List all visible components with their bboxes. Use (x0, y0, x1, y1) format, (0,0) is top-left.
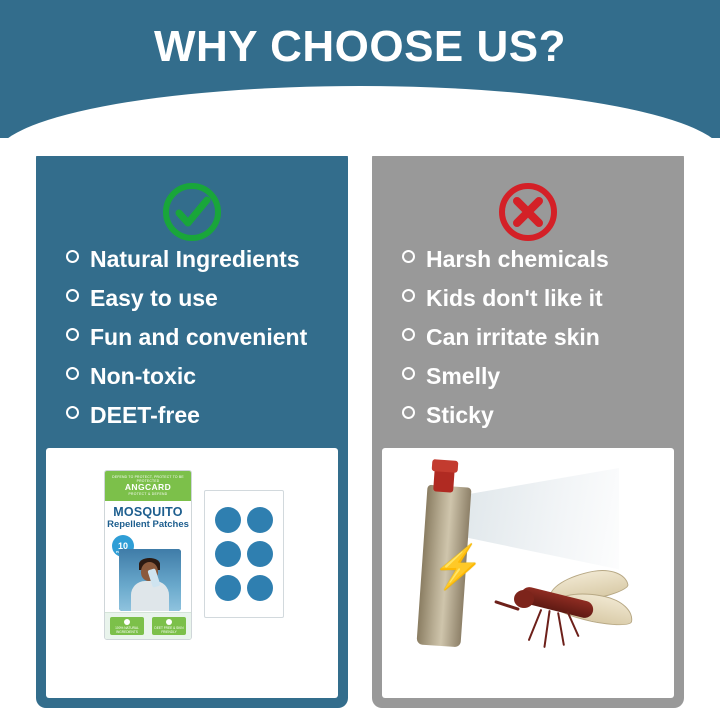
list-item: Kids don't like it (372, 287, 684, 310)
package-lifestyle-photo (119, 549, 181, 611)
package-header-band: DEFEND TO PROTECT, PROTECT TO BE PROTECT… (105, 471, 191, 501)
mosquito-leg (528, 609, 543, 641)
cross-circle-icon (372, 178, 684, 246)
pros-card: Natural Ingredients Easy to use Fun and … (36, 148, 348, 708)
cons-list: Harsh chemicals Kids don't like it Can i… (372, 248, 684, 443)
list-item-label: DEET-free (90, 404, 200, 427)
bullet-icon (402, 406, 415, 419)
list-item: Natural Ingredients (36, 248, 348, 271)
package-brand-sub: PROTECT & DEFEND (105, 492, 191, 496)
package-title-line1: MOSQUITO (105, 505, 191, 519)
list-item-label: Easy to use (90, 287, 218, 310)
list-item-label: Can irritate skin (426, 326, 600, 349)
pros-list: Natural Ingredients Easy to use Fun and … (36, 248, 348, 443)
package-brand: ANGCARD (105, 482, 191, 492)
package-footer-left: 100% NATURAL INGREDIENTS (110, 617, 144, 635)
package-title-line2: Repellent Patches (105, 519, 191, 530)
list-item: DEET-free (36, 404, 348, 427)
bullet-icon (402, 250, 415, 263)
cons-card: Harsh chemicals Kids don't like it Can i… (372, 148, 684, 708)
mosquito-head (514, 590, 534, 608)
list-item: Non-toxic (36, 365, 348, 388)
mosquito-leg (557, 612, 565, 646)
page-title: WHY CHOOSE US? (0, 22, 720, 72)
spray-can-nozzle (432, 459, 459, 473)
bullet-icon (66, 328, 79, 341)
list-item: Sticky (372, 404, 684, 427)
list-item: Harsh chemicals (372, 248, 684, 271)
bullet-icon (402, 367, 415, 380)
mosquito-leg (543, 610, 550, 648)
list-item-label: Sticky (426, 404, 494, 427)
package-footer-right-label: DEET FREE & SKIN FRIENDLY (154, 626, 183, 634)
list-item: Fun and convenient (36, 326, 348, 349)
product-package-box: DEFEND TO PROTECT, PROTECT TO BE PROTECT… (104, 470, 192, 640)
bullet-icon (402, 289, 415, 302)
bullet-icon (66, 250, 79, 263)
mosquito-illustration (510, 560, 660, 670)
bullet-icon (66, 289, 79, 302)
check-circle-icon (36, 178, 348, 246)
list-item-label: Smelly (426, 365, 500, 388)
cons-spray-image: ⚡ (382, 448, 674, 698)
list-item: Easy to use (36, 287, 348, 310)
bullet-icon (66, 367, 79, 380)
lightning-bolt-icon: ⚡ (432, 546, 458, 590)
list-item-label: Harsh chemicals (426, 248, 609, 271)
pros-product-image: DEFEND TO PROTECT, PROTECT TO BE PROTECT… (46, 448, 338, 698)
package-footer-band: 100% NATURAL INGREDIENTS DEET FREE & SKI… (105, 612, 191, 639)
list-item-label: Non-toxic (90, 365, 196, 388)
patch-sheet (204, 490, 284, 618)
why-choose-us-comparison-graphic: WHY CHOOSE US? Natural Ingredients Easy … (0, 0, 720, 720)
list-item: Smelly (372, 365, 684, 388)
list-item-label: Natural Ingredients (90, 248, 300, 271)
list-item-label: Kids don't like it (426, 287, 603, 310)
package-footer-right: DEET FREE & SKIN FRIENDLY (152, 617, 186, 635)
package-footer-left-label: 100% NATURAL INGREDIENTS (115, 626, 139, 634)
bullet-icon (402, 328, 415, 341)
bullet-icon (66, 406, 79, 419)
list-item: Can irritate skin (372, 326, 684, 349)
list-item-label: Fun and convenient (90, 326, 307, 349)
